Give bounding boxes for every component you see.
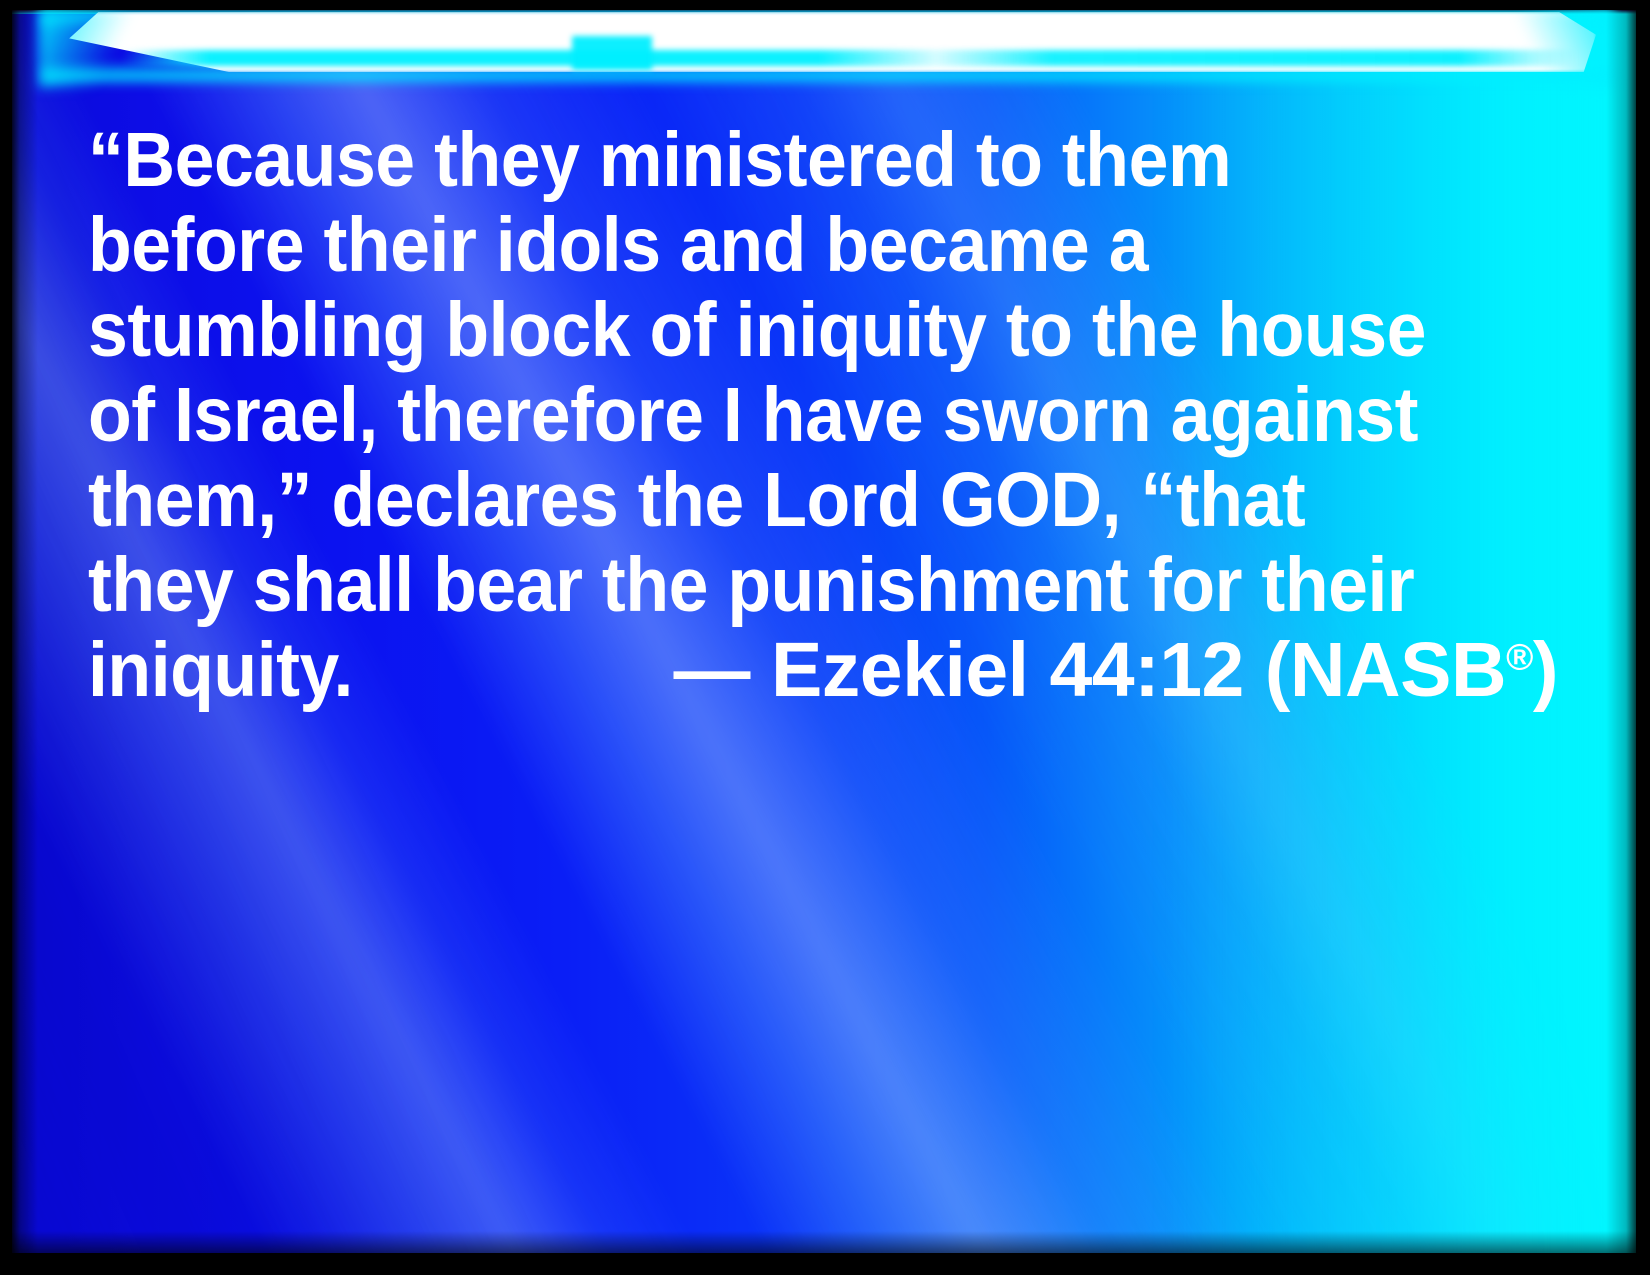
scripture-slide: “Because they ministered to them before … [0, 0, 1650, 1275]
top-band-left-edge-glow [38, 10, 158, 88]
top-band-cyan-notch [572, 36, 652, 70]
top-edge-sliver [12, 10, 1636, 14]
verse-attribution: — Ezekiel 44:12 (NASB®) [88, 628, 1558, 713]
top-band-core [60, 12, 1596, 72]
attribution-prefix: — Ezekiel 44:12 (NASB [674, 627, 1507, 713]
top-light-band [12, 10, 1636, 88]
top-band-right-edge-glow [1486, 10, 1616, 88]
slide-canvas: “Because they ministered to them before … [12, 10, 1636, 1253]
verse-text: “Because they ministered to them before … [88, 118, 1463, 713]
top-band-cyan-line [122, 50, 1576, 66]
top-band-glow [42, 10, 1612, 86]
attribution-suffix: ) [1533, 627, 1558, 713]
registered-trademark-icon: ® [1506, 636, 1533, 677]
